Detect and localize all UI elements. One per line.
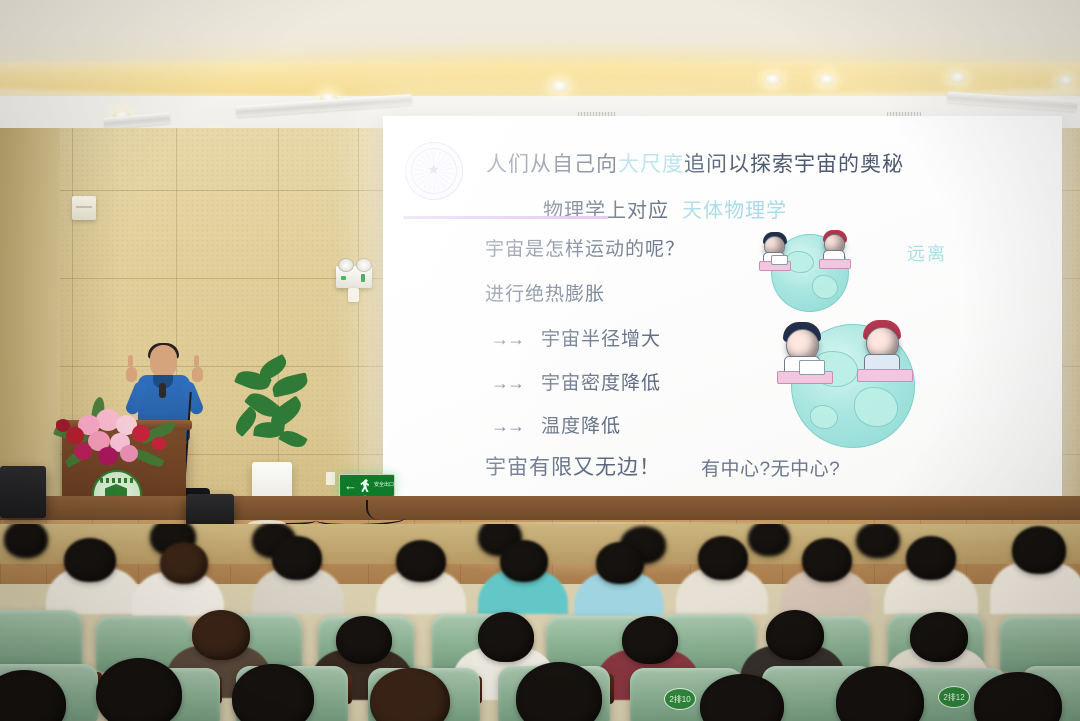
audience-head — [160, 542, 208, 584]
cartoon-student-right-small — [821, 230, 865, 268]
hand-right — [192, 367, 203, 382]
flower-blossom — [66, 427, 84, 444]
flower-blossom — [74, 443, 92, 460]
audience-head — [856, 524, 900, 558]
landmass-shape — [854, 387, 898, 427]
downlight-icon — [1057, 75, 1074, 86]
cartoon-student-left-large — [781, 322, 847, 384]
wall-switch[interactable] — [348, 288, 359, 302]
audience-head — [1012, 526, 1066, 574]
landmass-shape — [810, 405, 838, 429]
book-shape — [771, 255, 788, 265]
left-arrow-icon: ← — [344, 479, 357, 492]
slide-arrow-item-3-text: 温度降低 — [541, 416, 621, 437]
projection-screen: 人们从自己向大尺度追问以探索宇宙的奥秘 物理学上对应 天体物理学 宇宙是怎样运动… — [383, 116, 1062, 534]
audience-head-foreground — [96, 658, 182, 721]
university-seal-icon — [405, 142, 463, 200]
double-arrow-icon: →→ — [491, 416, 523, 436]
audience-head — [622, 616, 678, 664]
double-arrow-icon: →→ — [491, 329, 523, 349]
audience-head — [748, 524, 790, 556]
downlight-icon — [764, 74, 781, 85]
audience-head — [910, 612, 968, 662]
flower-blossom — [120, 445, 138, 462]
emergency-lamp-head-icon — [338, 258, 354, 272]
potted-plant — [228, 356, 320, 468]
audience-head — [478, 612, 534, 662]
wall-control-box[interactable] — [72, 196, 96, 220]
flower-blossom — [152, 437, 166, 450]
running-man-icon — [360, 479, 371, 492]
audience-head — [500, 540, 548, 582]
seal-ring-detail — [414, 151, 454, 191]
audience-area: 2排08 2排10 2排12 — [0, 524, 1080, 721]
seat-number-sticker: 2排12 — [938, 686, 970, 708]
pointing-finger-right — [194, 355, 199, 367]
downlight-icon — [818, 74, 835, 85]
exit-sign-switch[interactable] — [326, 472, 335, 485]
hand-left — [126, 367, 137, 382]
audience-head — [906, 536, 956, 580]
head-shape — [150, 345, 177, 377]
leaf-shape — [271, 372, 310, 397]
cartoon-student-left-small — [761, 232, 805, 270]
desk-shape — [857, 369, 913, 382]
status-led — [361, 274, 365, 282]
slide-body-line-2: 进行绝热膨胀 — [485, 279, 605, 306]
status-led — [341, 276, 346, 280]
flower-blossom — [98, 447, 118, 465]
downlight-icon — [949, 72, 966, 83]
slide-footer-left: 宇宙有限又无边！ — [485, 451, 661, 481]
book-shape — [799, 360, 825, 375]
flower-arrangement — [52, 395, 180, 475]
pa-speaker — [186, 494, 234, 526]
slide-title-highlight: 大尺度 — [618, 153, 684, 176]
audience-head — [698, 536, 748, 580]
audience-head — [272, 536, 322, 580]
exit-sign: ← 安全出口 — [339, 474, 395, 497]
illustration-label: 远离 — [907, 240, 947, 266]
flower-blossom — [56, 419, 70, 432]
audience-head — [192, 610, 250, 660]
seat-number-sticker: 2排10 — [664, 688, 696, 710]
cartoon-student-right-large — [861, 320, 927, 382]
audience-head — [802, 538, 852, 582]
slide-arrow-item-2-text: 宇宙密度降低 — [541, 373, 661, 394]
slide-body-line-1: 宇宙是怎样运动的呢？ — [485, 234, 685, 261]
auditorium-seat[interactable] — [0, 610, 82, 668]
emergency-light-fixture — [336, 266, 372, 288]
emergency-lamp-head-icon — [356, 258, 372, 272]
double-arrow-icon: →→ — [491, 373, 523, 393]
slide-title-part-3: 追问以探索宇宙的奥秘 — [684, 153, 904, 176]
slide-subtitle-highlight: 天体物理学 — [682, 200, 787, 222]
slide-footer-right: 有中心?无中心? — [701, 454, 840, 481]
slide-arrow-item-1: →→宇宙半径增大 — [491, 324, 661, 351]
audience-head — [596, 542, 644, 584]
audience-head — [336, 616, 392, 664]
downlight-icon — [551, 81, 568, 92]
slide-title-part-1: 人们从自己向 — [486, 153, 618, 176]
audience-head — [4, 524, 48, 558]
slide-arrow-item-2: →→宇宙密度降低 — [491, 368, 661, 395]
audience-head — [64, 538, 116, 582]
audience-head — [396, 540, 446, 582]
slide-arrow-item-3: →→温度降低 — [491, 411, 621, 438]
slide-arrow-item-1-text: 宇宙半径增大 — [541, 329, 661, 350]
desk-shape — [819, 259, 851, 269]
auditorium-seat[interactable] — [1000, 616, 1080, 672]
pointing-finger-left — [128, 355, 133, 367]
exit-sign-label: 安全出口 — [374, 483, 394, 489]
auditorium-photo: 人们从自己向大尺度追问以探索宇宙的奥秘 物理学上对应 天体物理学 宇宙是怎样运动… — [0, 0, 1080, 721]
flower-blossom — [132, 425, 150, 442]
pa-speaker — [0, 466, 46, 518]
audience-head — [766, 610, 824, 660]
slide-title: 人们从自己向大尺度追问以探索宇宙的奥秘 — [486, 148, 1046, 178]
slide-divider — [403, 216, 608, 219]
landmass-shape — [812, 275, 838, 299]
